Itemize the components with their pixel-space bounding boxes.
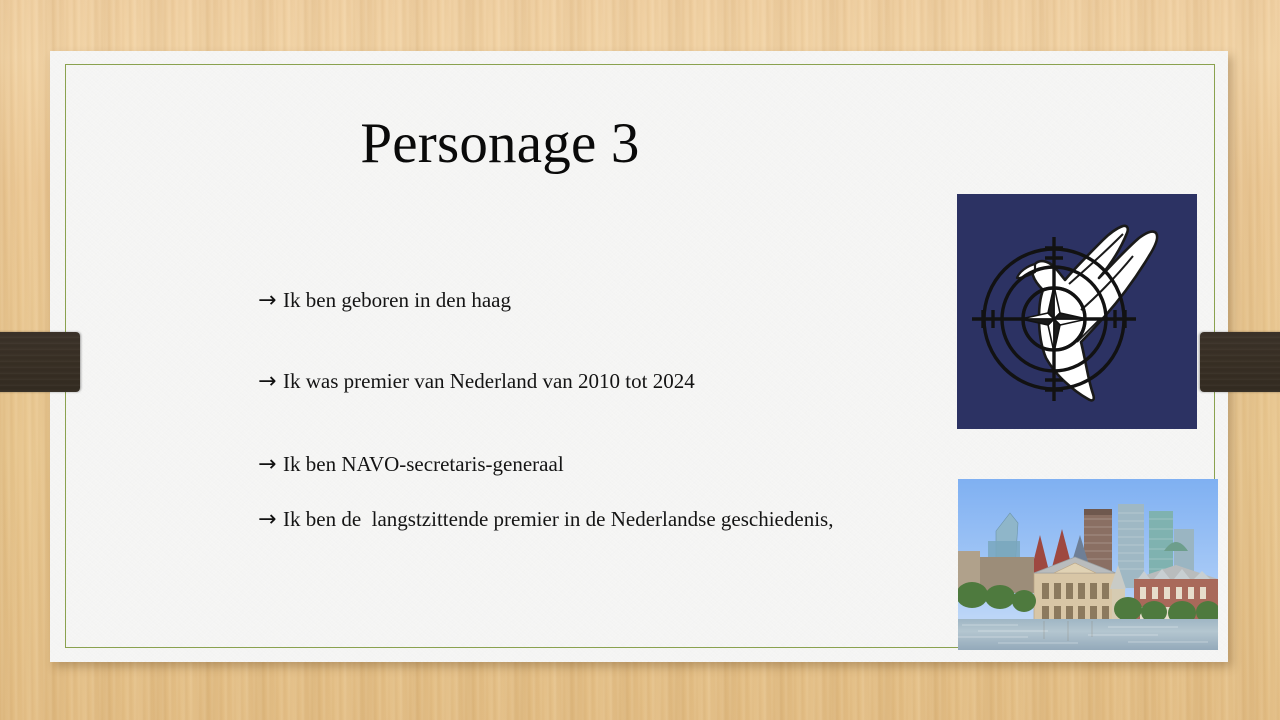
spacer (258, 394, 958, 452)
bullet-list: → Ik ben geboren in den haag → Ik was pr… (258, 288, 958, 532)
list-item-label: Ik ben NAVO-secretaris-generaal (283, 452, 958, 477)
spacer (258, 313, 958, 369)
list-item: → Ik ben NAVO-secretaris-generaal (258, 452, 958, 477)
the-hague-hofvijver-photo (958, 479, 1218, 650)
hague-skyline-graphic (958, 479, 1218, 650)
arrow-right-icon: → (258, 454, 283, 476)
arrow-right-icon: → (258, 290, 283, 312)
list-item: → Ik was premier van Nederland van 2010 … (258, 369, 958, 394)
list-item-label: Ik ben de langstzittende premier in de N… (283, 507, 958, 532)
arrow-right-icon: → (258, 371, 283, 393)
presentation-slide: Personage 3 → Ik ben geboren in den haag… (0, 0, 1280, 720)
decorative-strap-left (0, 332, 80, 392)
slide-title: Personage 3 (90, 113, 910, 176)
list-item-label: Ik ben geboren in den haag (283, 288, 958, 313)
arrow-right-icon: → (258, 509, 283, 531)
list-item: → Ik ben geboren in den haag (258, 288, 958, 313)
nato-dove-graphic (957, 194, 1197, 429)
nato-dove-crosshair-image (957, 194, 1197, 429)
spacer (258, 478, 958, 507)
list-item-label: Ik was premier van Nederland van 2010 to… (283, 369, 958, 394)
list-item: → Ik ben de langstzittende premier in de… (258, 507, 958, 532)
decorative-strap-right (1200, 332, 1280, 392)
